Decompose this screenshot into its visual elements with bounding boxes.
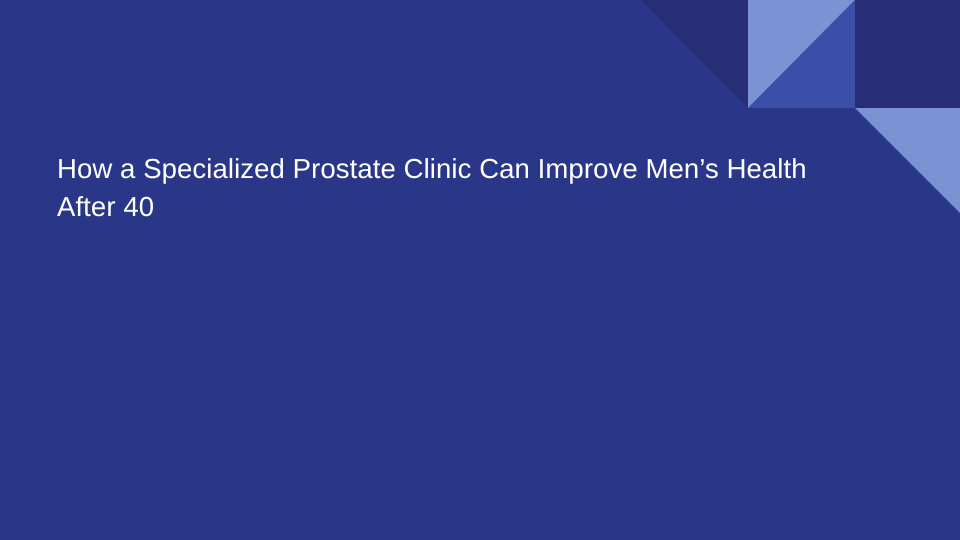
dark-navy-triangle-shape — [641, 0, 748, 108]
title-block: How a Specialized Prostate Clinic Can Im… — [57, 150, 857, 226]
geometric-corner-decoration — [0, 0, 960, 540]
dark-navy-rectangle-shape — [855, 0, 960, 108]
title-slide: How a Specialized Prostate Clinic Can Im… — [0, 0, 960, 540]
light-blue-lower-triangle-shape — [855, 108, 960, 213]
medium-blue-lower-triangle-shape — [748, 0, 855, 108]
slide-background-rect — [0, 0, 960, 540]
page-title: How a Specialized Prostate Clinic Can Im… — [57, 150, 857, 226]
light-blue-upper-triangle-shape — [748, 0, 855, 108]
